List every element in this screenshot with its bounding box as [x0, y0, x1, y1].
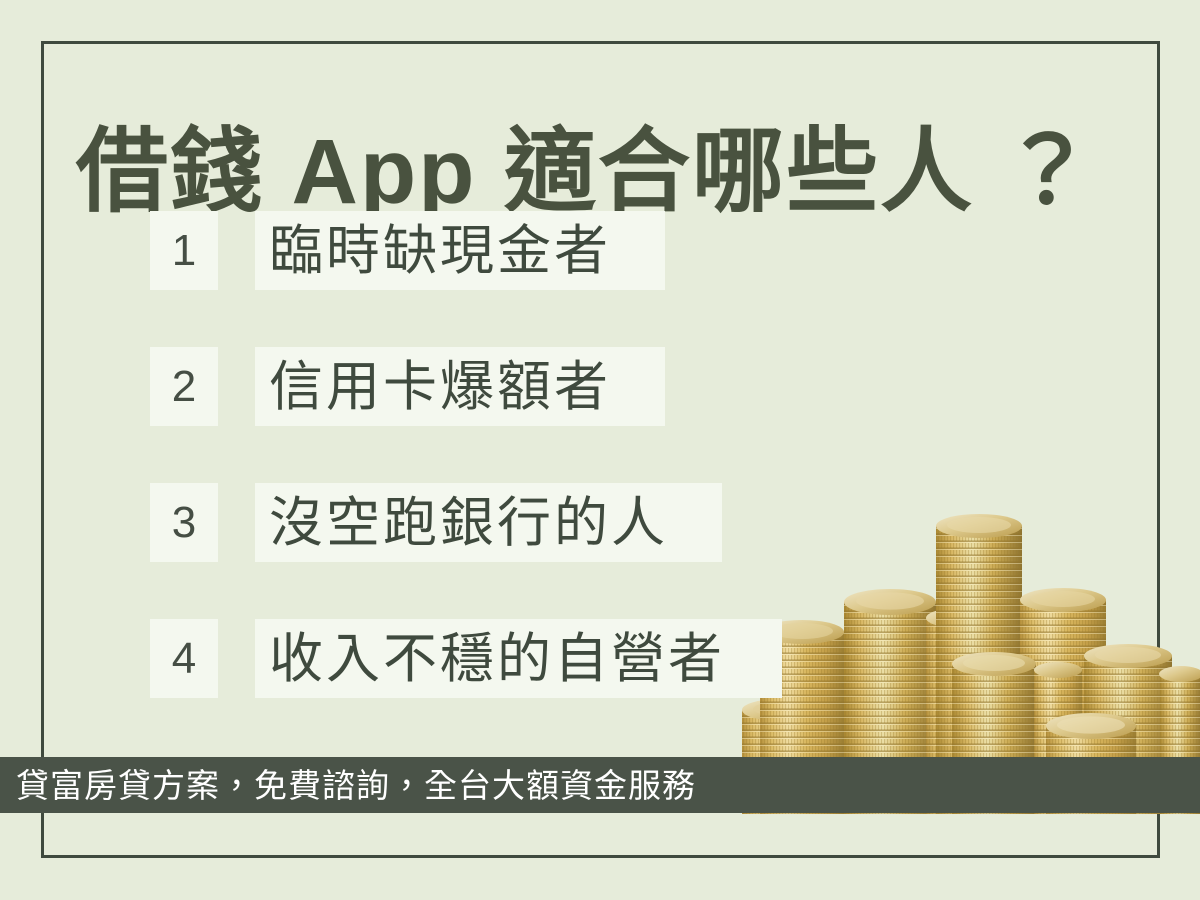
spacer: [218, 619, 255, 698]
spacer: [218, 483, 255, 562]
list-item-label: 信用卡爆額者: [269, 360, 611, 414]
list-item-label: 臨時缺現金者: [269, 224, 611, 278]
list-item-label: 沒空跑銀行的人: [269, 496, 668, 550]
spacer: [218, 211, 255, 290]
list-item: 2 信用卡爆額者: [150, 347, 782, 426]
list-item: 3 沒空跑銀行的人: [150, 483, 782, 562]
list-item-label-box: 臨時缺現金者: [255, 211, 665, 290]
list-item-number: 2: [150, 347, 218, 426]
list-item-label-box: 沒空跑銀行的人: [255, 483, 722, 562]
list-item: 4 收入不穩的自營者: [150, 619, 782, 698]
spacer: [218, 347, 255, 426]
bottom-banner: 貸富房貸方案，免費諮詢，全台大額資金服務: [0, 757, 1200, 813]
list-item-number: 3: [150, 483, 218, 562]
list-item: 1 臨時缺現金者: [150, 211, 782, 290]
list-item-label-box: 收入不穩的自營者: [255, 619, 782, 698]
slide-canvas: 借錢 App 適合哪些人 ？ 1 臨時缺現金者 2 信用卡爆額者 3 沒空跑銀行…: [0, 0, 1200, 900]
list-item-number: 4: [150, 619, 218, 698]
list-item-number: 1: [150, 211, 218, 290]
banner-text: 貸富房貸方案，免費諮詢，全台大額資金服務: [0, 769, 696, 802]
list-item-label-box: 信用卡爆額者: [255, 347, 665, 426]
list-item-label: 收入不穩的自營者: [269, 632, 725, 686]
audience-list: 1 臨時缺現金者 2 信用卡爆額者 3 沒空跑銀行的人 4 收入不穩的自營者: [150, 211, 782, 755]
page-title: 借錢 App 適合哪些人 ？: [76, 124, 1096, 221]
